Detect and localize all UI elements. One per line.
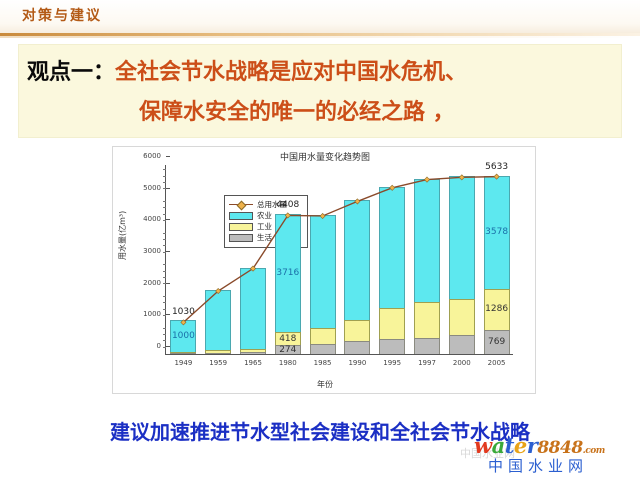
chart-plot-area: 总用水量 农业 工业 生活 01000200030004000500060001…: [165, 165, 513, 355]
watermark-chinese: 中国水业网: [488, 455, 588, 476]
banner-text-1: 全社会节水战略是应对中国水危机、: [115, 60, 467, 85]
watermark: 中国水业网 water8848.com 中国水业网: [466, 433, 640, 477]
header-divider-secondary: [0, 36, 640, 38]
chart-x-tick: 2005: [488, 359, 506, 367]
banner-prefix: 观点一：: [27, 60, 115, 85]
chart-x-tick: 1949: [174, 359, 192, 367]
chart-data-point-marker: [494, 174, 499, 179]
statement-banner: 观点一：全社会节水战略是应对中国水危机、 保障水安全的唯一的必经之路 ，: [18, 44, 622, 138]
banner-text-2: 保障水安全的唯一的必经之路 ，: [139, 100, 455, 125]
chart-x-axis-label: 年份: [113, 379, 537, 390]
chart-x-tick: 1965: [244, 359, 262, 367]
chart-x-tick: 1985: [314, 359, 332, 367]
chart-title: 中国用水量变化趋势图: [113, 150, 537, 163]
chart-x-tick: 1997: [418, 359, 436, 367]
chart-x-tick: 1959: [209, 359, 227, 367]
chart-x-tick: 1990: [348, 359, 366, 367]
chart-x-tick: 1980: [279, 359, 297, 367]
chart-data-point-marker: [355, 199, 360, 204]
chart-trend-line: [166, 165, 514, 355]
chart-data-point-marker: [424, 177, 429, 182]
slide: 对策与建议 观点一：全社会节水战略是应对中国水危机、 保障水安全的唯一的必经之路…: [0, 0, 640, 480]
chart-data-point-marker: [320, 213, 325, 218]
chart-y-axis-label: 用水量(亿m³): [117, 211, 128, 260]
chart-y-tick: 6000: [143, 152, 166, 160]
chart-x-tick: 2000: [453, 359, 471, 367]
banner-line-1: 观点一：全社会节水战略是应对中国水危机、: [19, 53, 621, 93]
chart-data-point-marker: [390, 185, 395, 190]
banner-line-2: 保障水安全的唯一的必经之路 ，: [19, 93, 621, 133]
page-title: 对策与建议: [22, 5, 102, 25]
chart-panel: 中国用水量变化趋势图 用水量(亿m³) 年份 总用水量 农业 工业: [112, 146, 536, 394]
chart-data-point-marker: [459, 175, 464, 180]
chart-x-tick: 1995: [383, 359, 401, 367]
